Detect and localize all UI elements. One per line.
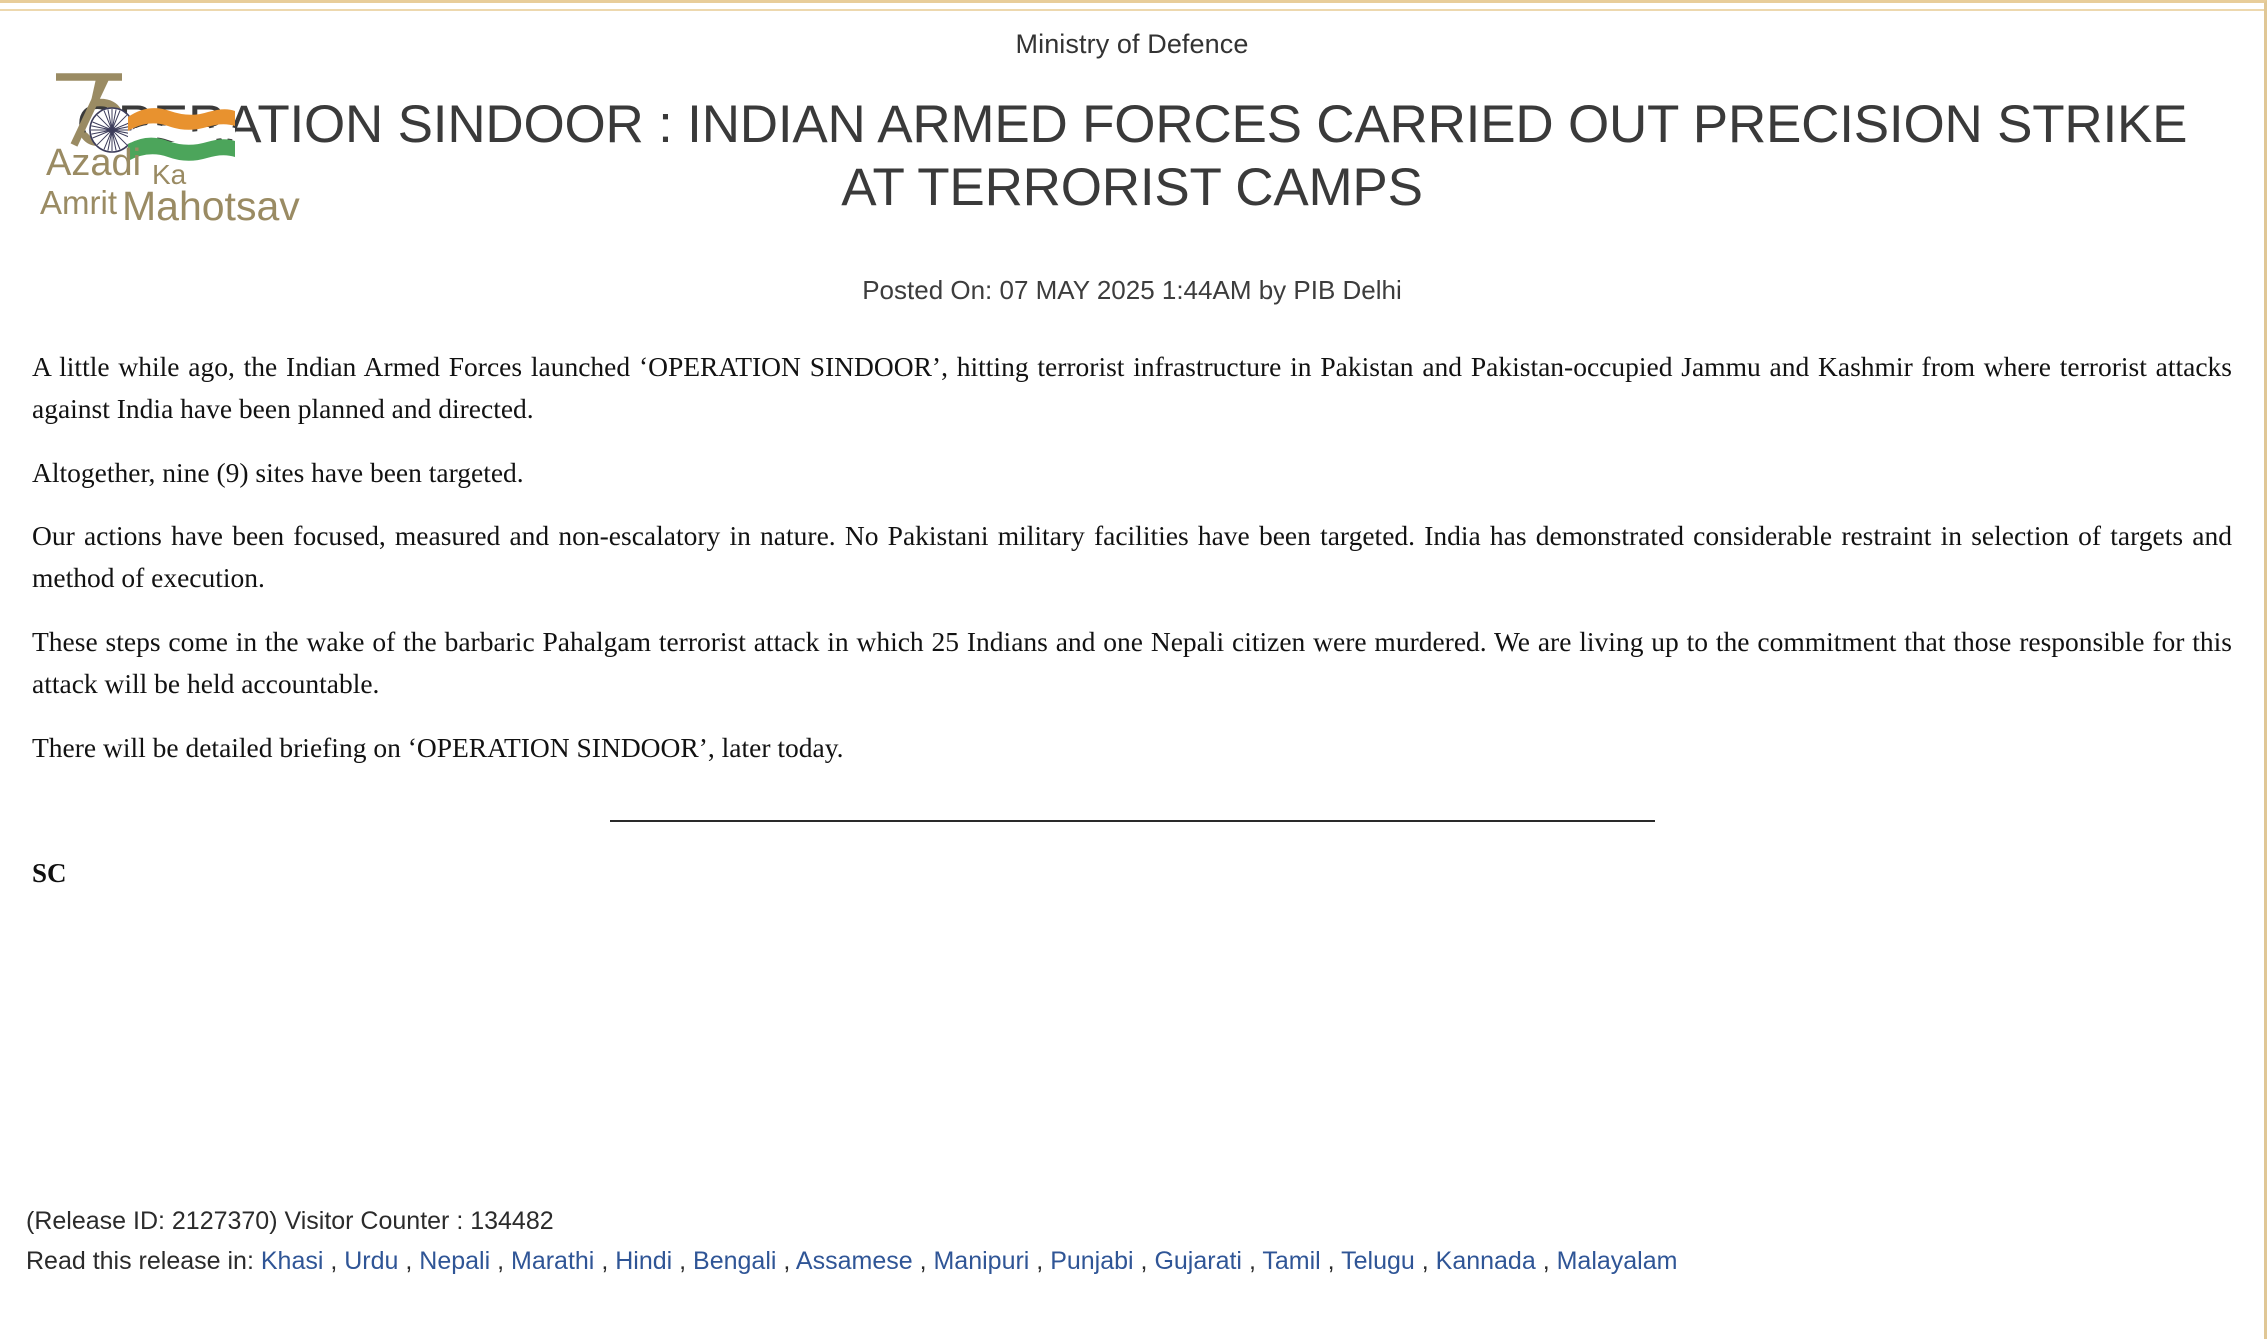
section-divider: [610, 820, 1655, 822]
release-id-and-visitor-counter: (Release ID: 2127370) Visitor Counter : …: [26, 1203, 2238, 1239]
release-body: A little while ago, the Indian Armed For…: [26, 346, 2238, 768]
azadi-ka-amrit-mahotsav-logo: Azadi Ka Amrit Mahotsav: [40, 53, 330, 188]
press-release-page: Ministry of Defence: [0, 0, 2267, 1339]
language-separator: ,: [913, 1247, 934, 1275]
release-paragraph: A little while ago, the Indian Armed For…: [32, 346, 2232, 430]
language-separator: ,: [490, 1247, 511, 1275]
language-separator: ,: [398, 1247, 419, 1275]
language-separator: ,: [1321, 1247, 1341, 1275]
page-title: OPERATION SINDOOR : INDIAN ARMED FORCES …: [42, 94, 2222, 219]
language-link-bengali[interactable]: Bengali: [693, 1247, 776, 1275]
release-paragraph: There will be detailed briefing on ‘OPER…: [32, 727, 2232, 769]
language-link-kannada[interactable]: Kannada: [1436, 1247, 1536, 1275]
language-separator: ,: [776, 1247, 795, 1275]
language-separator: ,: [594, 1247, 615, 1275]
language-separator: ,: [1242, 1247, 1262, 1275]
read-this-release-in-label: Read this release in:: [26, 1247, 261, 1275]
logo-text-mahotsav: Mahotsav: [122, 183, 300, 226]
language-links-line: Read this release in: Khasi , Urdu , Nep…: [26, 1243, 2238, 1279]
release-paragraph: Our actions have been focused, measured …: [32, 515, 2232, 599]
language-link-manipuri[interactable]: Manipuri: [933, 1247, 1029, 1275]
posted-on-line: Posted On: 07 MAY 2025 1:44AM by PIB Del…: [26, 275, 2238, 306]
language-links: Khasi , Urdu , Nepali , Marathi , Hindi …: [261, 1247, 1678, 1275]
ministry-name: Ministry of Defence: [26, 3, 2238, 60]
language-separator: ,: [1029, 1247, 1050, 1275]
language-link-khasi[interactable]: Khasi: [261, 1247, 324, 1275]
language-link-telugu[interactable]: Telugu: [1341, 1247, 1415, 1275]
release-paragraph: Altogether, nine (9) sites have been tar…: [32, 452, 2232, 494]
language-separator: ,: [672, 1247, 693, 1275]
language-link-nepali[interactable]: Nepali: [419, 1247, 490, 1275]
language-separator: ,: [1415, 1247, 1436, 1275]
language-link-marathi[interactable]: Marathi: [511, 1247, 594, 1275]
page-inner: Ministry of Defence: [0, 3, 2264, 1339]
language-link-hindi[interactable]: Hindi: [615, 1247, 672, 1275]
language-link-urdu[interactable]: Urdu: [344, 1247, 398, 1275]
logo-text-azadi: Azadi: [46, 142, 141, 184]
logo-text-amrit: Amrit: [40, 184, 117, 221]
language-link-malayalam[interactable]: Malayalam: [1557, 1247, 1678, 1275]
language-link-tamil[interactable]: Tamil: [1262, 1247, 1320, 1275]
release-footer: (Release ID: 2127370) Visitor Counter : …: [26, 1203, 2238, 1280]
language-link-gujarati[interactable]: Gujarati: [1154, 1247, 1242, 1275]
release-paragraph: These steps come in the wake of the barb…: [32, 621, 2232, 705]
language-link-punjabi[interactable]: Punjabi: [1050, 1247, 1133, 1275]
language-separator: ,: [323, 1247, 344, 1275]
language-separator: ,: [1134, 1247, 1155, 1275]
language-link-assamese[interactable]: Assamese: [796, 1247, 913, 1275]
language-separator: ,: [1536, 1247, 1557, 1275]
sign-off-initials: SC: [26, 858, 2238, 889]
